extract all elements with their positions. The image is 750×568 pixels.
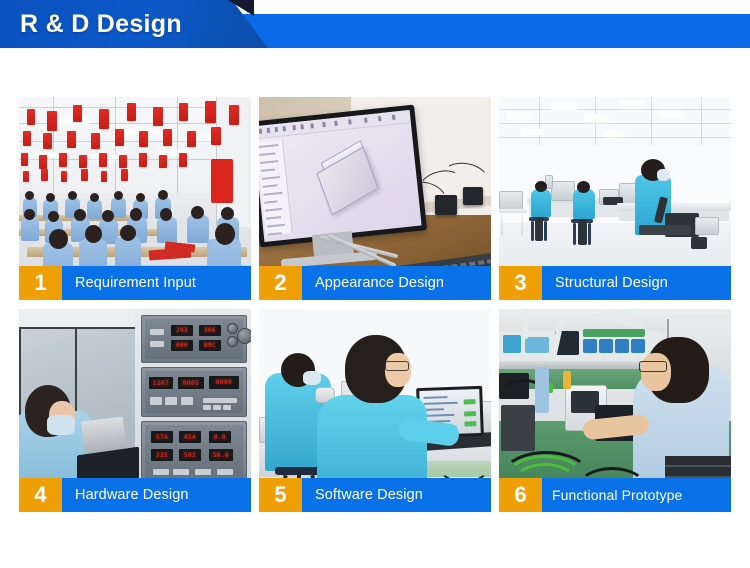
page-header: R & D Design [0,0,750,50]
process-card[interactable]: 1 Requirement Input [19,97,251,300]
led-readout: 293 [171,325,193,336]
card-title: Functional Prototype [542,478,731,512]
process-card[interactable]: 3 Structural Design [499,97,731,300]
card-number: 5 [259,478,302,512]
card-number: 1 [19,266,62,300]
card-label: 4 Hardware Design [19,478,251,512]
led-readout: 89C [199,340,221,351]
process-card[interactable]: 2 Appearance Design [259,97,491,300]
card-label: 3 Structural Design [499,266,731,300]
card-label: 1 Requirement Input [19,266,251,300]
led-readout: 306 [199,325,221,336]
card-number: 6 [499,478,542,512]
process-card-grid: 1 Requirement Input [19,97,731,512]
led-readout: 0000 [209,376,239,389]
card-label: 2 Appearance Design [259,266,491,300]
led-readout: 454 [179,431,201,443]
led-readout: 000 [171,340,193,351]
card-label: 6 Functional Prototype [499,478,731,512]
led-readout: 574 [151,431,173,443]
led-readout: 0.0 [209,431,231,443]
led-readout: 1207 [149,377,173,389]
process-card[interactable]: 5 Software Design [259,309,491,512]
card-title: Structural Design [542,266,731,300]
led-readout: 0005 [178,377,204,389]
card-number: 4 [19,478,62,512]
card-number: 2 [259,266,302,300]
card-number: 3 [499,266,542,300]
card-title: Requirement Input [62,266,251,300]
page-title: R & D Design [20,8,182,40]
card-label: 5 Software Design [259,478,491,512]
led-readout: 56.6 [209,449,233,461]
led-readout: 225 [151,449,173,461]
process-card[interactable]: 293 306 000 89C [19,309,251,512]
led-readout: 502 [179,449,201,461]
card-title: Software Design [302,478,491,512]
card-title: Appearance Design [302,266,491,300]
process-card[interactable]: 6 Functional Prototype [499,309,731,512]
card-title: Hardware Design [62,478,251,512]
rd-design-infographic: R & D Design [0,0,750,568]
